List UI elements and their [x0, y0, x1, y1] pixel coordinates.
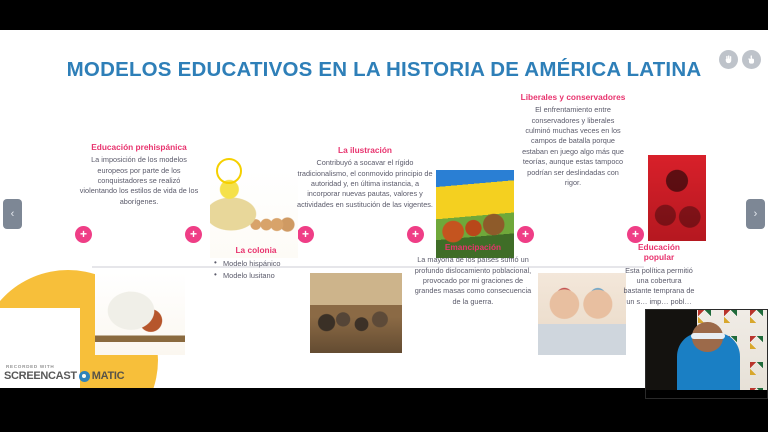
connector-rail-1	[92, 266, 202, 268]
plus-icon: +	[522, 228, 529, 240]
block-educacion-popular: Educación popular Esta política permitió…	[622, 242, 696, 307]
screencast-o-matic-watermark: RECORDED WITH SCREENCAST MATIC	[4, 364, 116, 382]
prev-slide-button[interactable]: ‹	[3, 199, 22, 229]
block-heading: La colonia	[208, 245, 304, 255]
letterbox-top	[0, 0, 768, 30]
screen-recording-stage: MODELOS EDUCATIVOS EN LA HISTORIA DE AMÉ…	[0, 0, 768, 432]
watermark-logo: SCREENCAST MATIC	[4, 370, 116, 382]
block-heading: La ilustración	[296, 145, 434, 155]
watermark-o-icon	[79, 371, 90, 382]
block-list: Modelo hispánico Modelo lusitano	[208, 258, 304, 282]
slide-title: MODELOS EDUCATIVOS EN LA HISTORIA DE AMÉ…	[0, 58, 768, 82]
plus-icon: +	[412, 228, 419, 240]
connector-node-3[interactable]: +	[297, 226, 314, 243]
next-slide-button[interactable]: ›	[746, 199, 765, 229]
list-item: Modelo hispánico	[214, 258, 304, 270]
chevron-left-icon: ‹	[11, 209, 15, 220]
block-heading: Emancipación	[412, 242, 534, 252]
highlight-ring-annotation	[216, 158, 242, 184]
block-body: Contribuyó a socavar el rígido tradicion…	[296, 158, 434, 210]
plus-icon: +	[190, 228, 197, 240]
watermark-left-text: SCREENCAST	[4, 370, 77, 382]
watermark-subtitle: RECORDED WITH	[4, 364, 116, 369]
connector-rail-3	[314, 266, 424, 268]
connector-node-2[interactable]: +	[185, 226, 202, 243]
webcam-bottom-bar	[646, 390, 767, 398]
webcam-overlay[interactable]	[645, 309, 768, 399]
image-ilustracion-escribano	[95, 273, 185, 355]
webcam-person-glasses	[691, 333, 725, 339]
block-body: El enfrentamiento entre conservadores y …	[519, 105, 627, 188]
watermark-right-text: MATIC	[92, 370, 125, 382]
connector-node-4[interactable]: +	[407, 226, 424, 243]
pointing-hand-icon	[746, 54, 757, 65]
block-heading: Liberales y conservadores	[519, 92, 627, 102]
plus-icon: +	[632, 228, 639, 240]
hand-tool-button[interactable]	[719, 50, 738, 69]
connector-node-6[interactable]: +	[627, 226, 644, 243]
block-body: La mayoría de los países sufrió un profu…	[412, 255, 534, 307]
plus-icon: +	[80, 228, 87, 240]
block-body: Esta política permitió una cobertura bas…	[622, 266, 696, 307]
block-heading: Educación popular	[622, 242, 696, 263]
chevron-right-icon: ›	[754, 209, 758, 220]
connector-node-5[interactable]: +	[517, 226, 534, 243]
block-body: La imposición de los modelos europeos po…	[78, 155, 200, 207]
connector-node-1[interactable]: +	[75, 226, 92, 243]
pointer-tool-button[interactable]	[742, 50, 761, 69]
image-pintura-aula-antigua	[310, 273, 402, 353]
list-item: Modelo lusitano	[214, 270, 304, 282]
block-heading: Educación prehispánica	[78, 142, 200, 152]
hand-icon	[723, 54, 734, 65]
block-educacion-prehispanica: Educación prehispánica La imposición de …	[78, 142, 200, 207]
block-la-colonia: La colonia Modelo hispánico Modelo lusit…	[208, 245, 304, 282]
image-ilustracion-educacion-popular	[538, 273, 626, 355]
plus-icon: +	[302, 228, 309, 240]
block-liberales-y-conservadores: Liberales y conservadores El enfrentamie…	[519, 92, 627, 188]
image-afiche-rojo	[648, 155, 706, 241]
block-emancipacion: Emancipación La mayoría de los países su…	[412, 242, 534, 307]
block-la-ilustracion: La ilustración Contribuyó a socavar el r…	[296, 145, 434, 210]
